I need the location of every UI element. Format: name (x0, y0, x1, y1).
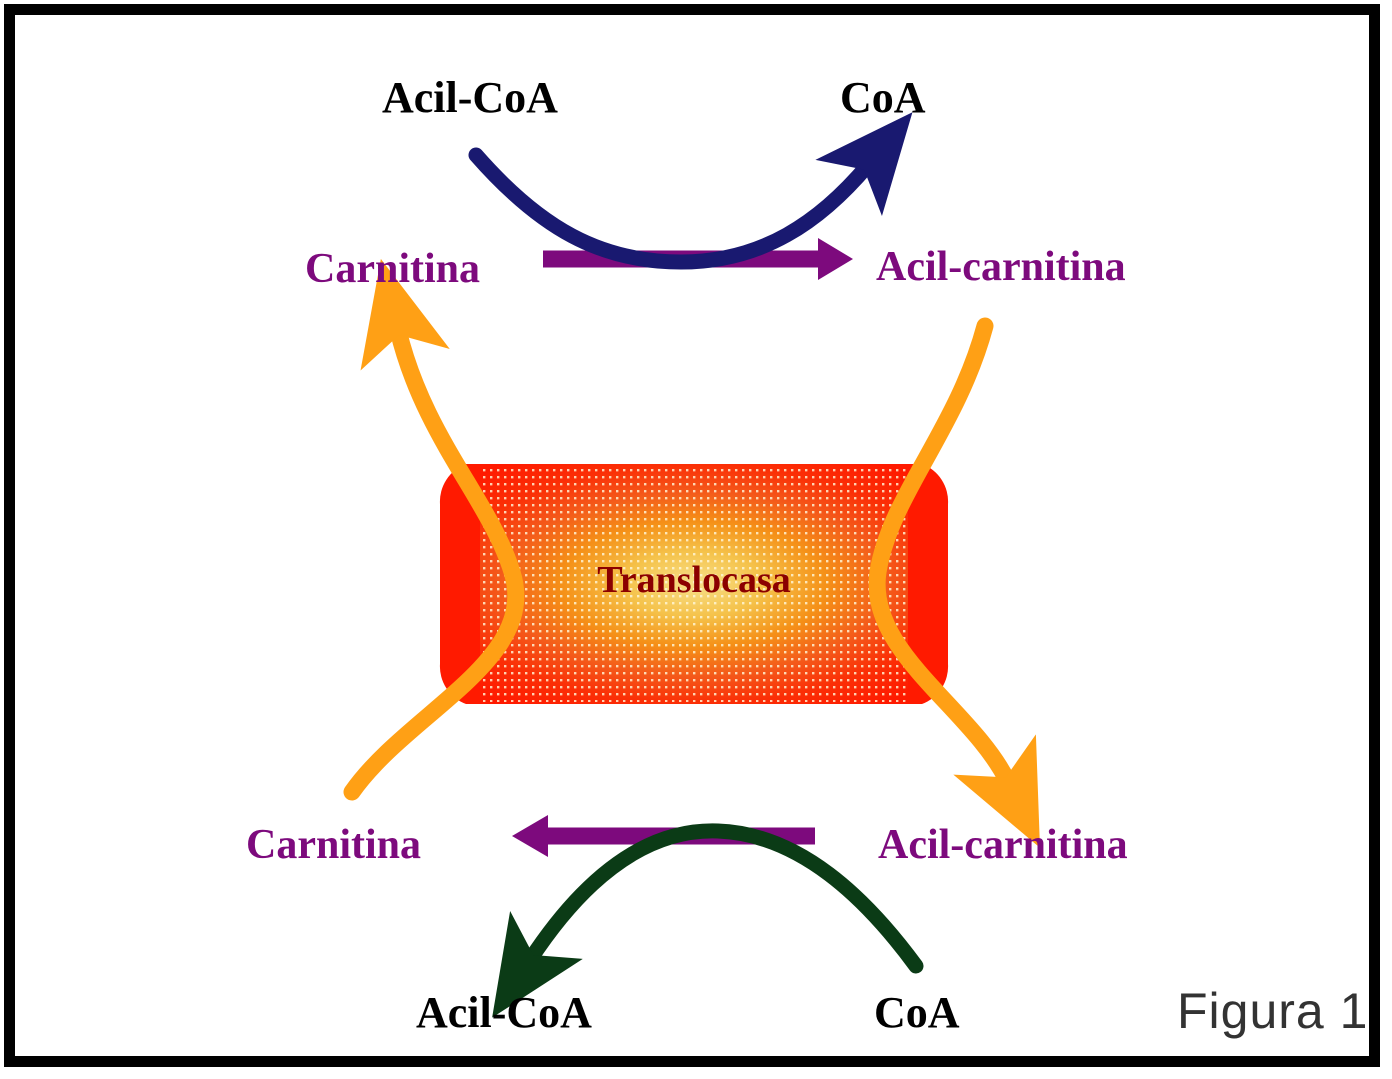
diagram-canvas (0, 0, 1392, 1079)
lower-exchange-arrow-head (512, 815, 548, 857)
label-top-acil-coa: Acil-CoA (382, 76, 558, 120)
figure-caption: Figura 1 (1177, 986, 1368, 1036)
label-lower-acil-carnitina: Acil-carnitina (878, 824, 1128, 866)
label-lower-carnitina: Carnitina (246, 824, 421, 866)
upper-exchange-arrow-head (818, 238, 853, 280)
translocase-label: Translocasa (440, 558, 948, 602)
label-bottom-acil-coa: Acil-CoA (416, 991, 592, 1035)
figure-root: Acil-CoA CoA Carnitina Acil-carnitina Tr… (0, 0, 1392, 1079)
label-upper-acil-carnitina: Acil-carnitina (876, 246, 1126, 288)
label-top-coa: CoA (840, 76, 926, 120)
label-bottom-coa: CoA (874, 991, 960, 1035)
acyl-transfer-curve-bottom (530, 831, 916, 966)
label-upper-carnitina: Carnitina (305, 248, 480, 290)
acyl-transfer-curve-top (476, 155, 868, 262)
